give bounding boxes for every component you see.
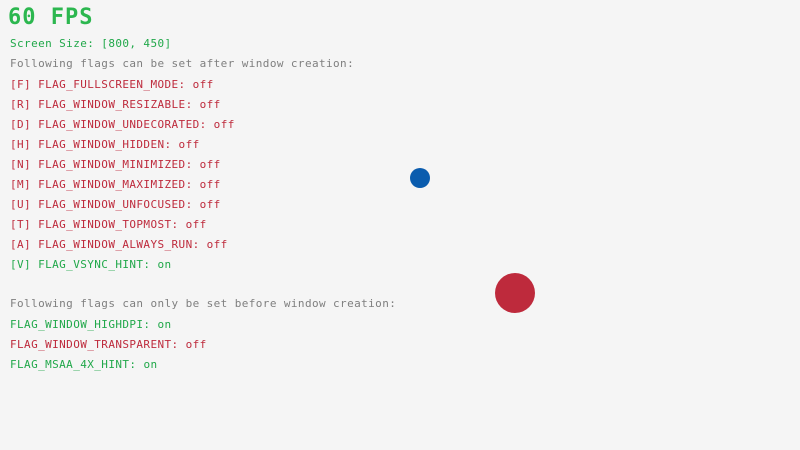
red-ball	[495, 273, 535, 313]
screen-size-label: Screen Size: [800, 450]	[10, 38, 172, 50]
flag-row[interactable]: [A] FLAG_WINDOW_ALWAYS_RUN: off	[10, 239, 228, 251]
fps-counter: 60 FPS	[8, 6, 93, 30]
startup-flags-heading: Following flags can only be set before w…	[10, 298, 396, 310]
flag-row[interactable]: FLAG_WINDOW_HIGHDPI: on	[10, 319, 172, 331]
flag-value: off	[193, 78, 214, 91]
flag-value: off	[200, 98, 221, 111]
flag-name: FLAG_WINDOW_MAXIMIZED:	[38, 178, 200, 191]
flag-row[interactable]: [F] FLAG_FULLSCREEN_MODE: off	[10, 79, 214, 91]
flag-hotkey: [N]	[10, 158, 38, 171]
flag-value: off	[179, 138, 200, 151]
flag-name: FLAG_FULLSCREEN_MODE:	[38, 78, 193, 91]
flag-hotkey: [H]	[10, 138, 38, 151]
app-window: 60 FPS Screen Size: [800, 450] Following…	[0, 0, 800, 450]
flag-value: off	[186, 218, 207, 231]
flag-hotkey: [V]	[10, 258, 38, 271]
flag-value: off	[200, 158, 221, 171]
flag-row[interactable]: [R] FLAG_WINDOW_RESIZABLE: off	[10, 99, 221, 111]
flag-hotkey: [D]	[10, 118, 38, 131]
flag-row[interactable]: [N] FLAG_WINDOW_MINIMIZED: off	[10, 159, 221, 171]
flag-name: FLAG_WINDOW_UNDECORATED:	[38, 118, 214, 131]
flag-value: off	[207, 238, 228, 251]
flag-name: FLAG_WINDOW_RESIZABLE:	[38, 98, 200, 111]
flag-name: FLAG_WINDOW_HIDDEN:	[38, 138, 178, 151]
flag-name: FLAG_MSAA_4X_HINT:	[10, 358, 143, 371]
flag-row[interactable]: [T] FLAG_WINDOW_TOPMOST: off	[10, 219, 207, 231]
blue-ball	[410, 168, 430, 188]
flag-row[interactable]: [M] FLAG_WINDOW_MAXIMIZED: off	[10, 179, 221, 191]
flag-name: FLAG_WINDOW_MINIMIZED:	[38, 158, 200, 171]
flag-name: FLAG_WINDOW_TRANSPARENT:	[10, 338, 186, 351]
flag-row[interactable]: FLAG_WINDOW_TRANSPARENT: off	[10, 339, 207, 351]
flag-name: FLAG_WINDOW_ALWAYS_RUN:	[38, 238, 207, 251]
flag-value: on	[143, 358, 157, 371]
flag-row[interactable]: [U] FLAG_WINDOW_UNFOCUSED: off	[10, 199, 221, 211]
flag-hotkey: [R]	[10, 98, 38, 111]
flag-row[interactable]: [D] FLAG_WINDOW_UNDECORATED: off	[10, 119, 235, 131]
flag-row[interactable]: FLAG_MSAA_4X_HINT: on	[10, 359, 157, 371]
flag-row[interactable]: [H] FLAG_WINDOW_HIDDEN: off	[10, 139, 200, 151]
flag-hotkey: [U]	[10, 198, 38, 211]
flag-name: FLAG_WINDOW_TOPMOST:	[38, 218, 185, 231]
flag-hotkey: [F]	[10, 78, 38, 91]
flag-name: FLAG_WINDOW_UNFOCUSED:	[38, 198, 200, 211]
flag-name: FLAG_VSYNC_HINT:	[38, 258, 157, 271]
flag-hotkey: [T]	[10, 218, 38, 231]
flag-name: FLAG_WINDOW_HIGHDPI:	[10, 318, 157, 331]
flag-hotkey: [M]	[10, 178, 38, 191]
flag-value: on	[157, 318, 171, 331]
flag-value: off	[186, 338, 207, 351]
flag-value: on	[157, 258, 171, 271]
flag-value: off	[214, 118, 235, 131]
flag-value: off	[200, 198, 221, 211]
runtime-flags-heading: Following flags can be set after window …	[10, 58, 354, 70]
flag-hotkey: [A]	[10, 238, 38, 251]
flag-value: off	[200, 178, 221, 191]
flag-row[interactable]: [V] FLAG_VSYNC_HINT: on	[10, 259, 172, 271]
